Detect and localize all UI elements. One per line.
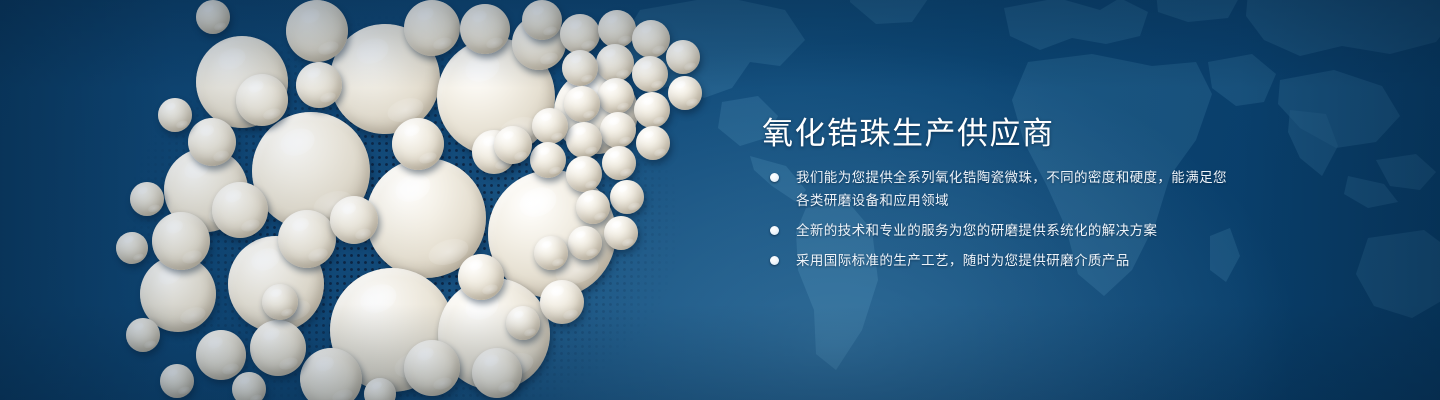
list-item: 全新的技术和专业的服务为您的研磨提供系统化的解决方案 bbox=[764, 219, 1234, 242]
filled-circle-bullet-icon bbox=[770, 226, 779, 235]
hero-banner: 氧化锆珠生产供应商 我们能为您提供全系列氧化锆陶瓷微珠，不同的密度和硬度，能满足… bbox=[0, 0, 1440, 400]
banner-copy: 氧化锆珠生产供应商 我们能为您提供全系列氧化锆陶瓷微珠，不同的密度和硬度，能满足… bbox=[762, 0, 1362, 400]
list-item: 采用国际标准的生产工艺，随时为您提供研磨介质产品 bbox=[764, 249, 1234, 272]
list-item-label: 全新的技术和专业的服务为您的研磨提供系统化的解决方案 bbox=[796, 223, 1157, 238]
page-title: 氧化锆珠生产供应商 bbox=[762, 108, 1055, 153]
list-item-label: 我们能为您提供全系列氧化锆陶瓷微珠，不同的密度和硬度，能满足您各类研磨设备和应用… bbox=[796, 170, 1227, 208]
filled-circle-bullet-icon bbox=[770, 256, 779, 265]
filled-circle-bullet-icon bbox=[770, 173, 779, 182]
list-item-label: 采用国际标准的生产工艺，随时为您提供研磨介质产品 bbox=[796, 253, 1130, 268]
list-item: 我们能为您提供全系列氧化锆陶瓷微珠，不同的密度和硬度，能满足您各类研磨设备和应用… bbox=[764, 166, 1234, 212]
feature-list: 我们能为您提供全系列氧化锆陶瓷微珠，不同的密度和硬度，能满足您各类研磨设备和应用… bbox=[764, 166, 1234, 272]
